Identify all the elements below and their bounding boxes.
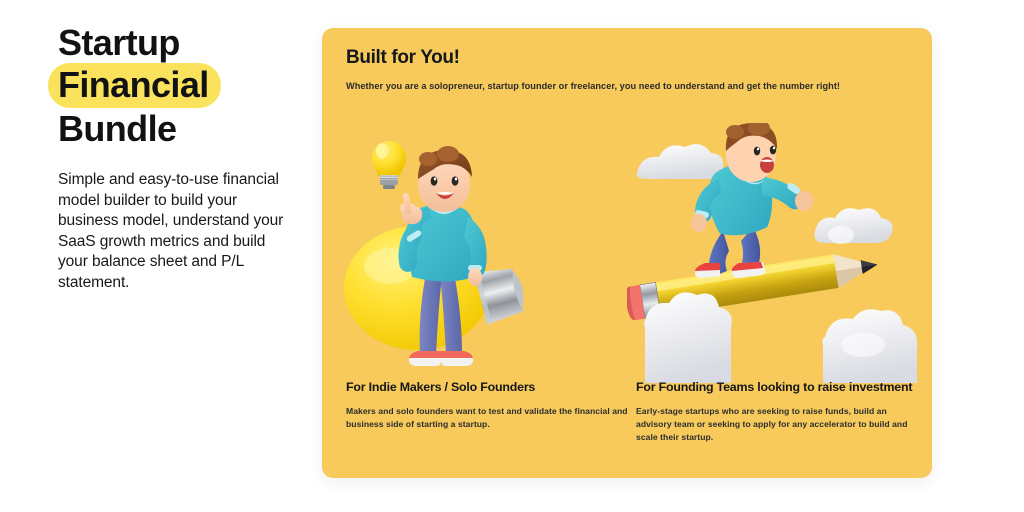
hero-description: Simple and easy-to-use financial model b… (58, 170, 286, 293)
panel-subtitle: Whether you are a solopreneur, startup f… (346, 81, 906, 91)
boy-with-lightbulb-illustration (322, 123, 627, 383)
cloud-bottom-right (822, 309, 917, 383)
hero-title-line-3: Bundle (58, 108, 308, 149)
hero-title-line-1: Startup (58, 22, 308, 63)
cloud-bottom-left (644, 292, 732, 383)
card-heading: For Founding Teams looking to raise inve… (636, 380, 916, 396)
page-root: Startup Financial Bundle Simple and easy… (0, 0, 1024, 512)
card-body: Makers and solo founders want to test an… (346, 405, 631, 431)
illustration-row (322, 123, 932, 383)
card-body: Early-stage startups who are seeking to … (636, 405, 916, 444)
boy-riding-pencil-illustration (627, 123, 932, 383)
cloud-right (814, 208, 892, 244)
card-heading: For Indie Makers / Solo Founders (346, 380, 631, 396)
hero-text-column: Startup Financial Bundle Simple and easy… (58, 22, 308, 293)
card-indie-makers: For Indie Makers / Solo Founders Makers … (346, 380, 631, 431)
hero-title-line-2: Financial (58, 63, 308, 108)
hero-title-highlight: Financial (48, 63, 221, 108)
cloud-top-left (637, 144, 724, 179)
built-for-you-panel: Built for You! Whether you are a solopre… (322, 28, 932, 478)
card-founding-teams: For Founding Teams looking to raise inve… (636, 380, 916, 444)
panel-title: Built for You! (346, 47, 906, 69)
panel-header: Built for You! Whether you are a solopre… (346, 47, 906, 91)
